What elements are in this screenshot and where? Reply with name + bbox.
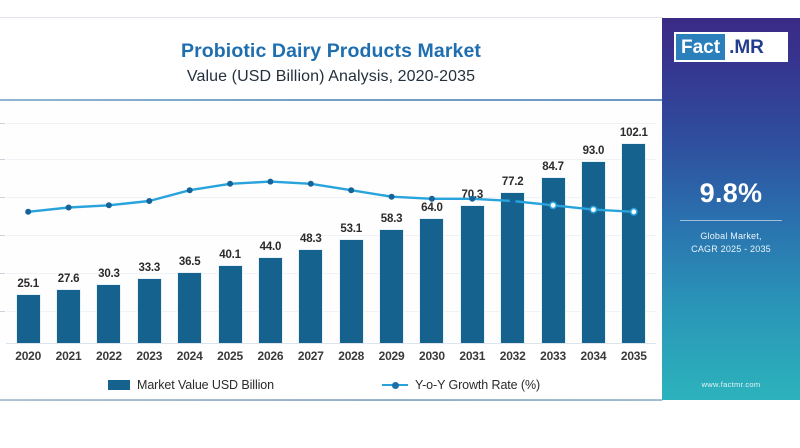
x-axis-label: 2028 [331,349,371,363]
cagr-value: 9.8% [662,178,800,209]
x-axis-label: 2031 [452,349,492,363]
x-axis-label: 2026 [250,349,290,363]
legend-bar-label: Market Value USD Billion [137,378,274,392]
chart-card: Probiotic Dairy Products Market Value (U… [0,18,662,400]
line-marker[interactable] [308,181,314,187]
chart-canvas: Probiotic Dairy Products Market Value (U… [0,0,800,448]
line-marker[interactable] [590,206,596,212]
legend-line-swatch-icon [382,380,408,390]
line-marker[interactable] [469,196,475,202]
line-marker[interactable] [187,187,193,193]
cagr-divider [680,220,782,221]
legend-line-label: Y-o-Y Growth Rate (%) [415,378,540,392]
website-url: www.factmr.com [662,380,800,389]
cagr-note-line-1: Global Market, [662,230,800,243]
cagr-note-line-2: CAGR 2025 - 2035 [662,243,800,256]
line-marker[interactable] [389,194,395,200]
chart-legend: Market Value USD Billion Y-o-Y Growth Ra… [0,378,662,400]
x-axis-label: 2030 [412,349,452,363]
x-axis-label: 2035 [614,349,654,363]
x-axis-label: 2032 [493,349,533,363]
x-axis-label: 2024 [170,349,210,363]
x-axis-label: 2029 [372,349,412,363]
factmr-logo[interactable]: Fact .MR [674,32,788,62]
line-marker[interactable] [510,198,516,204]
card-bottom-divider [0,399,662,401]
plot-area: 25.127.630.333.336.540.144.048.353.158.3… [0,101,662,343]
legend-bar-swatch-icon [108,380,130,390]
page-title: Probiotic Dairy Products Market [0,40,662,63]
line-marker[interactable] [106,202,112,208]
line-marker[interactable] [631,209,637,215]
page-subtitle: Value (USD Billion) Analysis, 2020-2035 [0,68,662,86]
line-marker[interactable] [550,202,556,208]
x-axis-line [6,343,656,344]
line-marker[interactable] [348,187,354,193]
line-marker[interactable] [66,205,72,211]
x-axis-label: 2027 [291,349,331,363]
logo-mr-text: .MR [725,34,768,60]
cagr-note: Global Market, CAGR 2025 - 2035 [662,230,800,256]
x-axis-label: 2034 [573,349,613,363]
legend-item-market-value: Market Value USD Billion [108,378,274,392]
chart-header: Probiotic Dairy Products Market Value (U… [0,18,662,100]
line-marker[interactable] [146,198,152,204]
line-marker[interactable] [267,179,273,185]
x-axis-label: 2022 [89,349,129,363]
line-marker[interactable] [227,181,233,187]
line-marker[interactable] [25,209,31,215]
legend-item-growth-rate: Y-o-Y Growth Rate (%) [382,378,540,392]
x-axis-label: 2023 [129,349,169,363]
x-axis-label: 2025 [210,349,250,363]
x-axis-label: 2021 [49,349,89,363]
x-axis-label: 2020 [8,349,48,363]
x-axis: 2020202120222023202420252026202720282029… [0,343,662,369]
logo-fact-text: Fact [676,34,725,60]
brand-sidebar: Fact .MR 9.8% Global Market, CAGR 2025 -… [662,18,800,400]
x-axis-label: 2033 [533,349,573,363]
line-marker[interactable] [429,196,435,202]
growth-rate-line-series [0,101,662,343]
growth-rate-line [28,182,634,212]
